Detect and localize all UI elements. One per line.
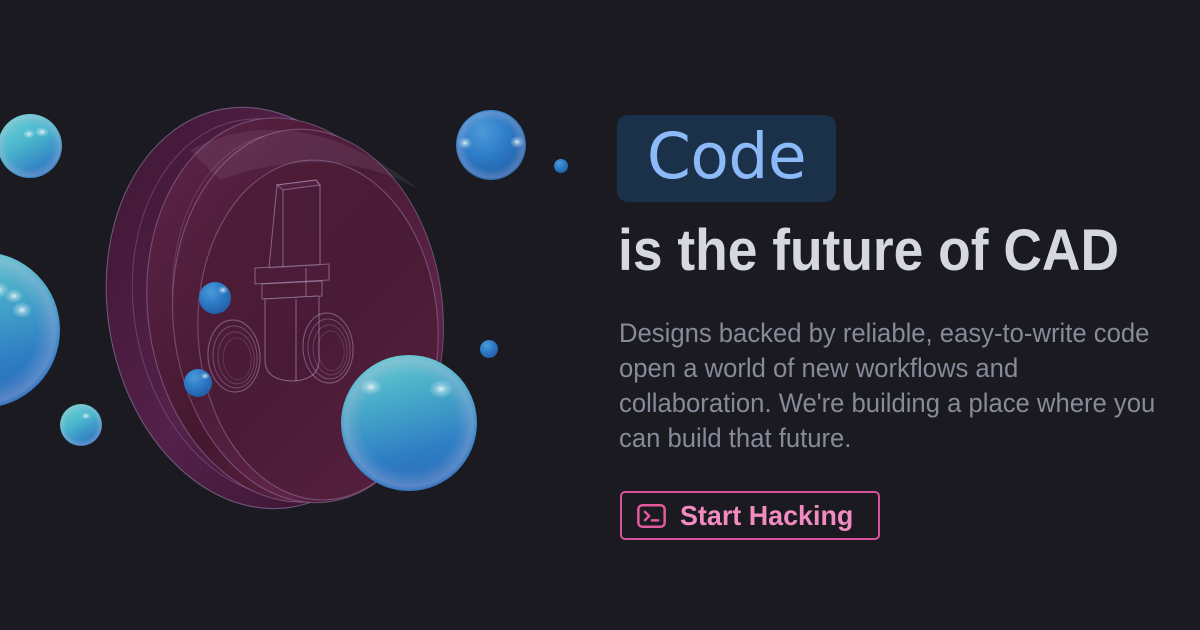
sphere-dot-right-upper [554,159,568,173]
terminal-icon [637,504,666,528]
sphere-top-right [456,110,526,180]
sphere-center-large [341,355,477,491]
start-hacking-button[interactable]: Start Hacking [620,491,880,540]
sphere-on-part-lower [184,369,212,397]
hero-artwork [0,0,620,630]
hero-description: Designs backed by reliable, easy-to-writ… [619,316,1165,456]
code-badge: Code [617,115,836,202]
code-badge-label: Code [647,125,806,193]
start-hacking-label: Start Hacking [680,502,853,530]
page-title: is the future of CAD [618,222,1119,280]
hero-banner: Code is the future of CAD Designs backed… [0,0,1200,630]
sphere-lower-left-small [60,404,102,446]
sphere-on-part-upper [199,282,231,314]
hero-content: Code is the future of CAD Designs backed… [617,0,1200,630]
sphere-mid-left-large [0,252,60,408]
sphere-dot-right-lower [480,340,498,358]
sphere-top-left [0,114,62,178]
